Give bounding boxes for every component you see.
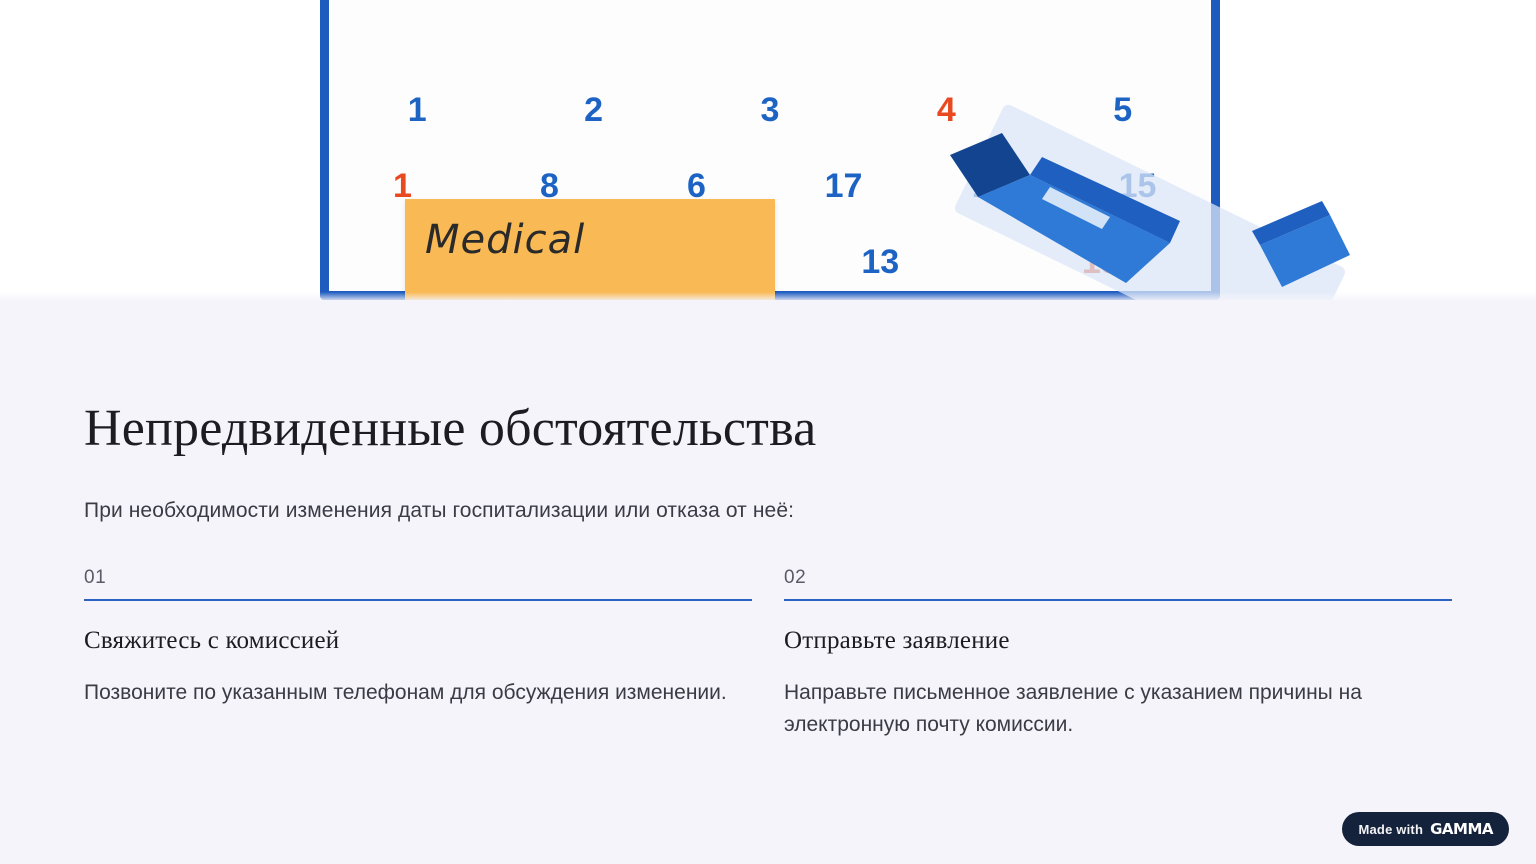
badge-made-with-label: Made with <box>1358 822 1423 837</box>
page-subtitle: При необходимости изменения даты госпита… <box>84 457 1452 523</box>
badge-brand-label: GAMMA <box>1430 820 1493 838</box>
steps-columns: 01 Свяжитесь с комиссией Позвоните по ук… <box>84 523 1452 741</box>
step-body: Позвоните по указанным телефонам для обс… <box>84 655 729 709</box>
hero-image: 1 2 3 4 5 1 8 6 17 16 15 1 11 13 <box>0 0 1536 300</box>
page-title: Непредвиденные обстоятельства <box>84 300 1452 457</box>
hero-fade <box>0 292 1536 300</box>
calendar-day: 2 <box>554 91 634 130</box>
slide-content: Непредвиденные обстоятельства При необхо… <box>84 300 1452 741</box>
step-number: 01 <box>84 567 752 599</box>
calendar-row-1: 1 2 3 4 5 <box>329 91 1211 130</box>
step-number: 02 <box>784 567 1452 599</box>
step-column-02: 02 Отправьте заявление Направьте письмен… <box>784 567 1452 741</box>
calendar-day: 13 <box>840 243 920 282</box>
calendar-day: 17 <box>804 167 884 206</box>
step-heading: Отправьте заявление <box>784 601 1452 655</box>
step-heading: Свяжитесь с комиссией <box>84 601 752 655</box>
hero-illustration: 1 2 3 4 5 1 8 6 17 16 15 1 11 13 <box>0 0 1536 300</box>
calendar-day: 3 <box>730 91 810 130</box>
step-body: Направьте письменное заявление с указани… <box>784 655 1429 741</box>
calendar-day-accent: 4 <box>906 91 986 130</box>
sticky-note-text: Medical <box>425 217 585 263</box>
calendar-day: 1 <box>377 91 457 130</box>
made-with-gamma-badge[interactable]: Made with GAMMA <box>1342 812 1509 846</box>
step-column-01: 01 Свяжитесь с комиссией Позвоните по ук… <box>84 567 752 741</box>
calendar-day: 5 <box>1083 91 1163 130</box>
slide: 1 2 3 4 5 1 8 6 17 16 15 1 11 13 <box>0 0 1536 864</box>
sticky-note: Medical <box>405 199 775 300</box>
